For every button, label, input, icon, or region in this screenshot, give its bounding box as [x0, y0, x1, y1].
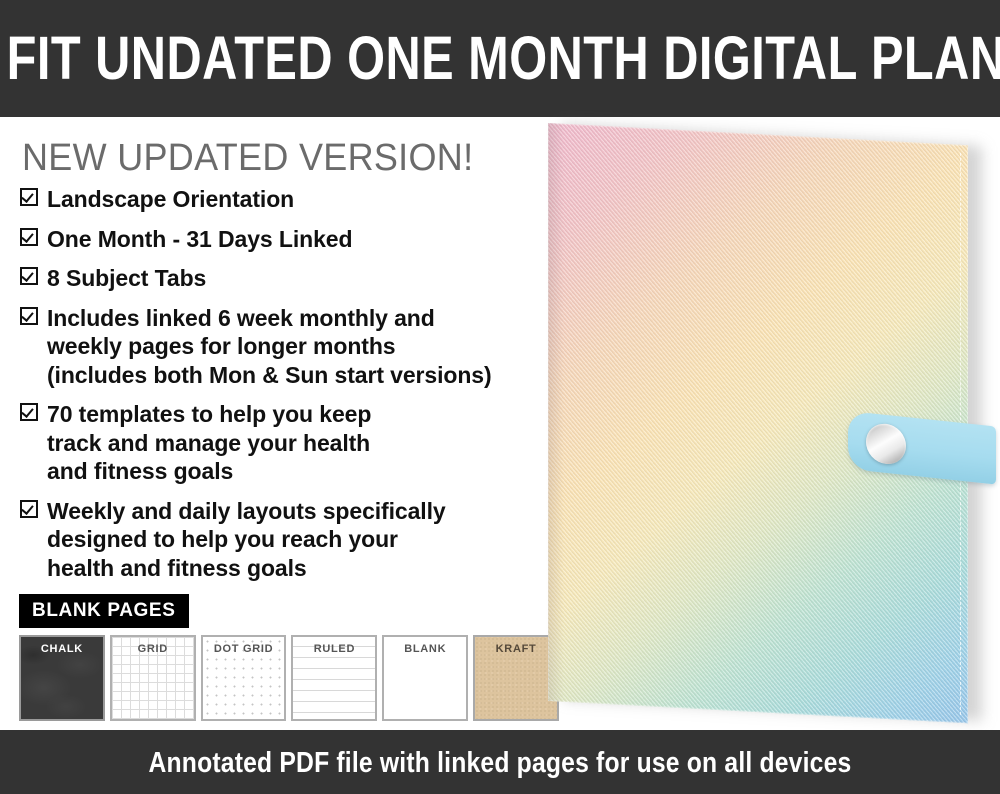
feature-text: Includes linked 6 week monthly and weekl…: [47, 304, 492, 390]
feature-text: Weekly and daily layouts specifically de…: [47, 497, 446, 583]
product-listing-image: GET FIT UNDATED ONE MONTH DIGITAL PLANNE…: [0, 0, 1000, 794]
paper-swatch-row: CHALK GRID DOT GRID RULED BLANK KRAFT: [19, 635, 559, 721]
list-item: 70 templates to help you keep track and …: [20, 400, 550, 486]
paper-swatch-blank: BLANK: [382, 635, 468, 721]
list-item: One Month - 31 Days Linked: [20, 225, 550, 254]
list-item: Includes linked 6 week monthly and weekl…: [20, 304, 550, 390]
paper-swatch-ruled: RULED: [291, 635, 377, 721]
cover-front: [548, 123, 968, 723]
paper-swatch-chalk: CHALK: [19, 635, 105, 721]
header-banner: GET FIT UNDATED ONE MONTH DIGITAL PLANNE…: [0, 0, 1000, 117]
footer-banner: Annotated PDF file with linked pages for…: [0, 730, 1000, 794]
swatch-label: GRID: [112, 643, 194, 655]
feature-list: Landscape Orientation One Month - 31 Day…: [20, 185, 550, 593]
checkbox-checked-icon: [20, 188, 40, 208]
swatch-label: BLANK: [384, 643, 466, 655]
checkbox-checked-icon: [20, 403, 40, 423]
list-item: Weekly and daily layouts specifically de…: [20, 497, 550, 583]
swatch-label: DOT GRID: [203, 643, 285, 655]
blank-pages-section: BLANK PAGES CHALK GRID DOT GRID RULED BL…: [19, 594, 559, 721]
subheading: NEW UPDATED VERSION!: [22, 135, 473, 180]
snap-button-icon: [866, 422, 906, 466]
feature-text: 70 templates to help you keep track and …: [47, 400, 371, 486]
swatch-label: RULED: [293, 643, 375, 655]
checkbox-checked-icon: [20, 500, 40, 520]
checkbox-checked-icon: [20, 267, 40, 287]
list-item: Landscape Orientation: [20, 185, 550, 214]
paper-swatch-grid: GRID: [110, 635, 196, 721]
list-item: 8 Subject Tabs: [20, 264, 550, 293]
cover-spine-shading: [548, 123, 564, 702]
features-column: NEW UPDATED VERSION! Landscape Orientati…: [0, 117, 560, 730]
feature-text: 8 Subject Tabs: [47, 264, 206, 293]
feature-text: One Month - 31 Days Linked: [47, 225, 352, 254]
planner-cover-image: [530, 117, 1000, 730]
checkbox-checked-icon: [20, 228, 40, 248]
swatch-label: CHALK: [21, 643, 103, 655]
page-title: GET FIT UNDATED ONE MONTH DIGITAL PLANNE…: [0, 23, 1000, 94]
paper-swatch-dot-grid: DOT GRID: [201, 635, 287, 721]
checkbox-checked-icon: [20, 307, 40, 327]
blank-pages-label: BLANK PAGES: [19, 594, 189, 628]
swatch-label: KRAFT: [475, 643, 557, 655]
feature-text: Landscape Orientation: [47, 185, 294, 214]
footer-text: Annotated PDF file with linked pages for…: [149, 745, 852, 780]
